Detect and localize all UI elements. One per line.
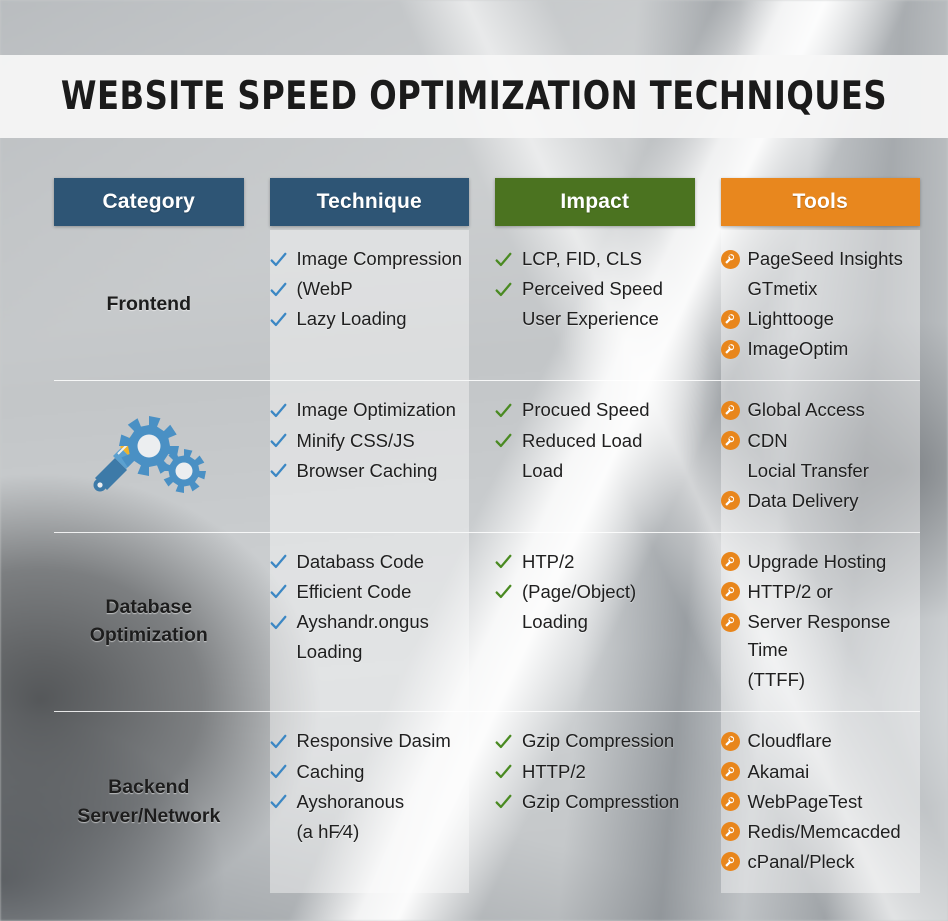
list-item: Databass Code: [270, 547, 470, 577]
techniques-table: CategoryTechniqueImpactTools FrontendIma…: [54, 178, 920, 893]
list-item: Data Delivery: [721, 486, 921, 516]
list-item-label: ImageOptim: [748, 335, 921, 363]
no-marker-spacer: [721, 666, 748, 694]
list-item: CDN: [721, 426, 921, 456]
column-header-category: Category: [54, 178, 244, 226]
check-icon: [270, 788, 297, 816]
cell-impact: LCP, FID, CLSPerceived SpeedUser Experie…: [495, 230, 695, 380]
check-icon: [495, 578, 522, 606]
column-header-label: Technique: [317, 190, 422, 214]
cell-technique: Databass CodeEfficient CodeAyshandr.ongu…: [270, 533, 470, 712]
wrench-icon: [721, 613, 740, 632]
list-item: (Page/Object): [495, 577, 695, 607]
cell-tools-list: CloudflareAkamaiWebPageTestRedis/Memcacd…: [721, 726, 921, 877]
check-icon: [495, 245, 522, 273]
no-marker-spacer: [270, 818, 297, 846]
check-icon: [495, 758, 522, 786]
column-header-label: Category: [102, 190, 195, 214]
no-marker-spacer: [495, 305, 522, 333]
list-item: WebPageTest: [721, 787, 921, 817]
wrench-icon-slot: [721, 758, 748, 786]
no-marker-spacer: [721, 457, 748, 485]
list-item-label: (WebP: [297, 275, 470, 303]
cell-impact-list: HTP/2(Page/Object)Loading: [495, 547, 695, 637]
wrench-icon: [721, 852, 740, 871]
list-item-label: User Experience: [522, 305, 695, 333]
cell-category: Frontend: [54, 230, 244, 380]
check-icon: [270, 548, 297, 576]
cell-category: [54, 381, 244, 531]
category-label: DatabaseOptimization: [90, 593, 208, 650]
cell-category: BackendServer/Network: [54, 712, 244, 893]
cell-technique-list: Image Compression(WebPLazy Loading: [270, 244, 470, 334]
list-item-label: Responsive Dasim: [297, 727, 470, 755]
check-icon: [495, 788, 522, 816]
wrench-icon: [721, 491, 740, 510]
list-item: Loading: [495, 607, 695, 637]
wrench-icon-slot: [721, 396, 748, 424]
check-icon: [270, 305, 297, 333]
list-item-label: Upgrade Hosting: [748, 548, 921, 576]
list-item-label: Gzip Compression: [522, 727, 695, 755]
cell-technique: Image OptimizationMinify CSS/JSBrowser C…: [270, 381, 470, 531]
list-item: Efficient Code: [270, 577, 470, 607]
list-item-label: Global Access: [748, 396, 921, 424]
wrench-icon-slot: [721, 427, 748, 455]
list-item-label: (a hF⁄4): [297, 818, 470, 846]
check-icon: [495, 548, 522, 576]
list-item: Procued Speed: [495, 395, 695, 425]
wrench-icon: [721, 792, 740, 811]
cell-tools: PageSeed InsightsGTmetixLighttoogeImageO…: [721, 230, 921, 380]
list-item-label: Redis/Memcacded: [748, 818, 921, 846]
list-item-label: Image Optimization: [297, 396, 470, 424]
check-icon: [495, 396, 522, 424]
list-item-label: Lazy Loading: [297, 305, 470, 333]
wrench-icon-slot: [721, 245, 748, 273]
wrench-icon-slot: [721, 848, 748, 876]
check-icon: [270, 427, 297, 455]
list-item: User Experience: [495, 304, 695, 334]
wrench-icon-slot: [721, 818, 748, 846]
list-item: Load: [495, 456, 695, 486]
title-band: WEBSITE SPEED OPTIMIZATION TECHNIQUES: [0, 55, 948, 138]
wrench-icon-slot: [721, 578, 748, 606]
cell-impact: Procued SpeedReduced LoadLoad: [495, 381, 695, 531]
wrench-icon: [721, 822, 740, 841]
wrench-icon-slot: [721, 305, 748, 333]
no-marker-spacer: [495, 457, 522, 485]
list-item-label: Databass Code: [297, 548, 470, 576]
list-item: HTP/2: [495, 547, 695, 577]
no-marker-spacer: [721, 275, 748, 303]
no-marker-spacer: [495, 608, 522, 636]
check-icon: [270, 578, 297, 606]
wrench-icon-slot: [721, 727, 748, 755]
list-item-label: WebPageTest: [748, 788, 921, 816]
column-header-impact: Impact: [495, 178, 695, 226]
check-icon: [270, 457, 297, 485]
list-item-label: Locial Transfer: [748, 457, 921, 485]
cell-tools: Global AccessCDNLocial TransferData Deli…: [721, 381, 921, 531]
list-item-label: Lighttooge: [748, 305, 921, 333]
wrench-icon: [721, 732, 740, 751]
list-item: Minify CSS/JS: [270, 426, 470, 456]
wrench-icon: [721, 762, 740, 781]
cell-technique: Responsive DasimCachingAyshoranous(a hF⁄…: [270, 712, 470, 893]
check-icon: [270, 608, 297, 636]
wrench-icon-slot: [721, 788, 748, 816]
check-icon: [270, 245, 297, 273]
list-item-label: Server Response Time: [748, 608, 921, 664]
cell-tools-list: PageSeed InsightsGTmetixLighttoogeImageO…: [721, 244, 921, 364]
list-item-label: Data Delivery: [748, 487, 921, 515]
cell-impact: Gzip CompressionHTTP/2Gzip Compresstion: [495, 712, 695, 893]
cell-technique-list: Responsive DasimCachingAyshoranous(a hF⁄…: [270, 726, 470, 846]
cell-tools-list: Global AccessCDNLocial TransferData Deli…: [721, 395, 921, 515]
list-item-label: Gzip Compresstion: [522, 788, 695, 816]
list-item-label: Perceived Speed: [522, 275, 695, 303]
list-item-label: Loading: [297, 638, 470, 666]
page-title: WEBSITE SPEED OPTIMIZATION TECHNIQUES: [61, 74, 887, 119]
wrench-icon: [721, 431, 740, 450]
list-item-label: Minify CSS/JS: [297, 427, 470, 455]
list-item-label: Browser Caching: [297, 457, 470, 485]
list-item: Redis/Memcacded: [721, 817, 921, 847]
list-item: Server Response Time: [721, 607, 921, 665]
list-item: Cloudflare: [721, 726, 921, 756]
list-item: Upgrade Hosting: [721, 547, 921, 577]
check-icon: [270, 758, 297, 786]
list-item: Perceived Speed: [495, 274, 695, 304]
cell-impact-list: Gzip CompressionHTTP/2Gzip Compresstion: [495, 726, 695, 816]
list-item: Browser Caching: [270, 456, 470, 486]
list-item: Responsive Dasim: [270, 726, 470, 756]
wrench-icon-slot: [721, 335, 748, 363]
list-item: (a hF⁄4): [270, 817, 470, 847]
check-icon: [270, 396, 297, 424]
list-item-label: Image Compression: [297, 245, 470, 273]
column-header-technique: Technique: [270, 178, 470, 226]
table-row: DatabaseOptimizationDatabass CodeEfficie…: [54, 532, 920, 712]
cell-technique: Image Compression(WebPLazy Loading: [270, 230, 470, 380]
list-item-label: cPanal/Pleck: [748, 848, 921, 876]
column-header-tools: Tools: [721, 178, 921, 226]
list-item: Reduced Load: [495, 426, 695, 456]
list-item-label: PageSeed Insights: [748, 245, 921, 273]
column-header-label: Impact: [560, 190, 629, 214]
cell-tools-list: Upgrade HostingHTTP/2 orServer Response …: [721, 547, 921, 696]
table-row: FrontendImage Compression(WebPLazy Loadi…: [54, 230, 920, 380]
table-row: Image OptimizationMinify CSS/JSBrowser C…: [54, 380, 920, 531]
cell-tools: Upgrade HostingHTTP/2 orServer Response …: [721, 533, 921, 712]
list-item: Caching: [270, 757, 470, 787]
category-label: BackendServer/Network: [77, 773, 220, 830]
list-item-label: Load: [522, 457, 695, 485]
list-item-label: (Page/Object): [522, 578, 695, 606]
list-item: (TTFF): [721, 665, 921, 695]
wrench-icon: [721, 250, 740, 269]
cell-technique-list: Image OptimizationMinify CSS/JSBrowser C…: [270, 395, 470, 485]
list-item-label: Ayshandr.ongus: [297, 608, 470, 636]
table-row: BackendServer/NetworkResponsive DasimCac…: [54, 711, 920, 893]
check-icon: [495, 275, 522, 303]
list-item-label: GTmetix: [748, 275, 921, 303]
cell-category: DatabaseOptimization: [54, 533, 244, 712]
list-item-label: Procued Speed: [522, 396, 695, 424]
cell-technique-list: Databass CodeEfficient CodeAyshandr.ongu…: [270, 547, 470, 667]
list-item-label: Cloudflare: [748, 727, 921, 755]
list-item: (WebP: [270, 274, 470, 304]
list-item: Gzip Compression: [495, 726, 695, 756]
list-item-label: Ayshoranous: [297, 788, 470, 816]
cell-impact-list: LCP, FID, CLSPerceived SpeedUser Experie…: [495, 244, 695, 334]
wrench-icon-slot: [721, 487, 748, 515]
wrench-icon: [721, 340, 740, 359]
list-item-label: Caching: [297, 758, 470, 786]
list-item: Ayshandr.ongus: [270, 607, 470, 637]
list-item-label: Akamai: [748, 758, 921, 786]
list-item: Lazy Loading: [270, 304, 470, 334]
check-icon: [270, 727, 297, 755]
no-marker-spacer: [270, 638, 297, 666]
wrench-icon: [721, 552, 740, 571]
check-icon: [270, 275, 297, 303]
column-header-label: Tools: [793, 190, 848, 214]
list-item: Loading: [270, 637, 470, 667]
list-item: Locial Transfer: [721, 456, 921, 486]
list-item-label: Loading: [522, 608, 695, 636]
category-label: Frontend: [107, 290, 191, 318]
list-item: LCP, FID, CLS: [495, 244, 695, 274]
check-icon: [495, 427, 522, 455]
list-item: HTTP/2: [495, 757, 695, 787]
list-item: HTTP/2 or: [721, 577, 921, 607]
list-item: Gzip Compresstion: [495, 787, 695, 817]
list-item: Akamai: [721, 757, 921, 787]
list-item: Lighttooge: [721, 304, 921, 334]
cell-impact-list: Procued SpeedReduced LoadLoad: [495, 395, 695, 485]
list-item-label: HTTP/2: [522, 758, 695, 786]
cell-tools: CloudflareAkamaiWebPageTestRedis/Memcacd…: [721, 712, 921, 893]
wrench-icon: [721, 401, 740, 420]
check-icon: [495, 727, 522, 755]
list-item-label: HTP/2: [522, 548, 695, 576]
list-item: Image Optimization: [270, 395, 470, 425]
table-header-row: CategoryTechniqueImpactTools: [54, 178, 920, 226]
list-item-label: Efficient Code: [297, 578, 470, 606]
list-item: GTmetix: [721, 274, 921, 304]
list-item: PageSeed Insights: [721, 244, 921, 274]
wrench-icon: [721, 582, 740, 601]
list-item-label: LCP, FID, CLS: [522, 245, 695, 273]
cell-impact: HTP/2(Page/Object)Loading: [495, 533, 695, 712]
table-body: FrontendImage Compression(WebPLazy Loadi…: [54, 230, 920, 893]
gear-brush-icon: [87, 408, 211, 504]
list-item: ImageOptim: [721, 334, 921, 364]
wrench-icon: [721, 310, 740, 329]
list-item-label: Reduced Load: [522, 427, 695, 455]
wrench-icon-slot: [721, 608, 748, 636]
list-item: Global Access: [721, 395, 921, 425]
list-item: Image Compression: [270, 244, 470, 274]
list-item-label: CDN: [748, 427, 921, 455]
list-item: cPanal/Pleck: [721, 847, 921, 877]
list-item: Ayshoranous: [270, 787, 470, 817]
wrench-icon-slot: [721, 548, 748, 576]
list-item-label: HTTP/2 or: [748, 578, 921, 606]
list-item-label: (TTFF): [748, 666, 921, 694]
